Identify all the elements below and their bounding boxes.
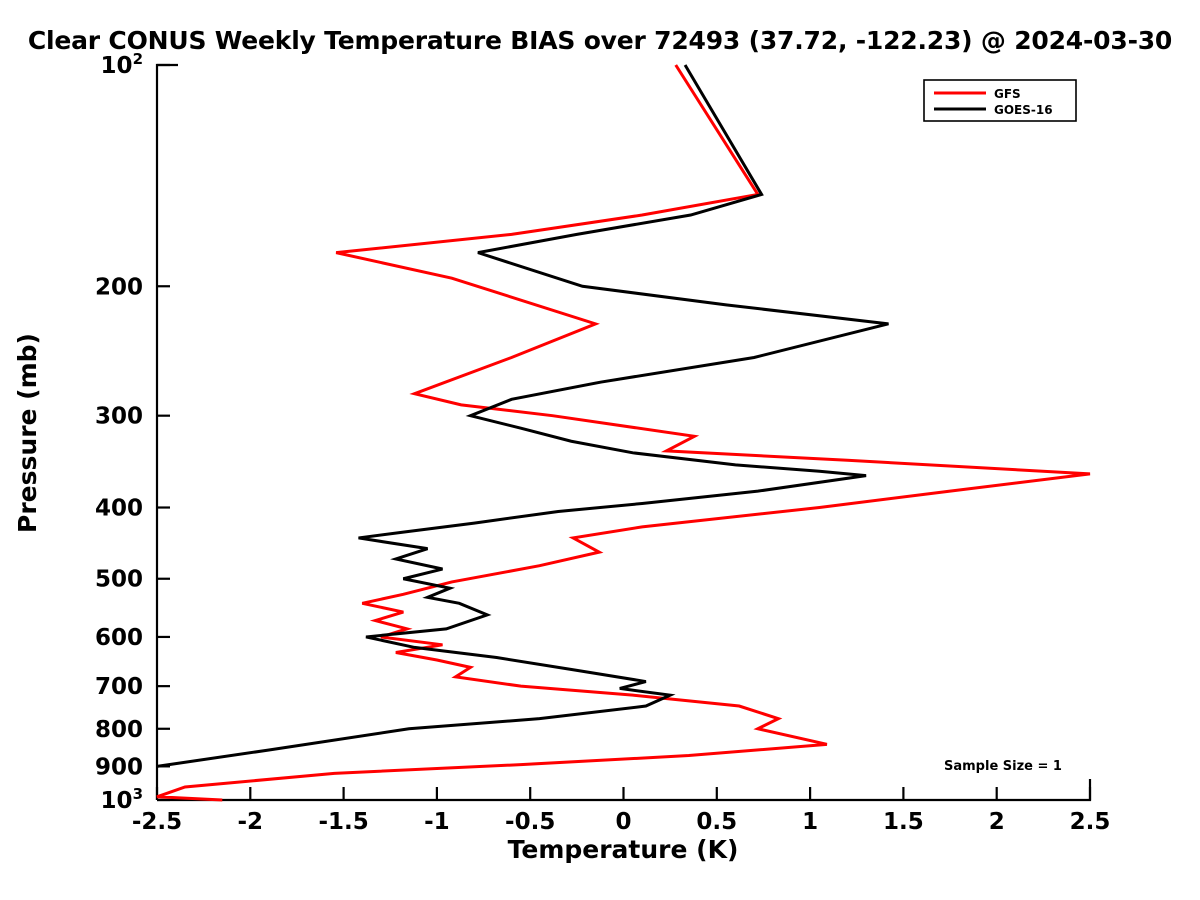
- y-tick-labels: 102200300400500600700800900103: [95, 50, 143, 814]
- x-tick-label: 2: [989, 809, 1005, 835]
- y-tick-label: 102: [101, 50, 143, 79]
- y-tick-label: 800: [95, 717, 143, 743]
- y-tick-label: 600: [95, 625, 143, 651]
- y-tick-label: 300: [95, 404, 143, 430]
- x-tick-label: 1: [802, 809, 818, 835]
- y-tick-label: 500: [95, 567, 143, 593]
- x-tick-label: 0: [615, 809, 631, 835]
- data-series-layer: [157, 65, 1090, 800]
- y-tick-label: 200: [95, 274, 143, 300]
- x-tick-labels: -2.5-2-1.5-1-0.500.511.522.5: [132, 809, 1111, 835]
- series-line-goes-16: [157, 65, 888, 766]
- axis-left-spine: [157, 65, 178, 800]
- x-axis-title: Temperature (K): [508, 835, 739, 864]
- x-tick-label: -1: [424, 809, 450, 835]
- x-tick-label: -0.5: [505, 809, 555, 835]
- y-axis-title: Pressure (mb): [13, 333, 42, 533]
- legend[interactable]: GFSGOES-16: [924, 80, 1076, 121]
- x-tick-label: 1.5: [883, 809, 924, 835]
- plot-svg: 102200300400500600700800900103 -2.5-2-1.…: [0, 0, 1200, 900]
- x-tick-label: -1.5: [318, 809, 368, 835]
- figure-canvas: Clear CONUS Weekly Temperature BIAS over…: [0, 0, 1200, 900]
- y-tick-label: 700: [95, 674, 143, 700]
- y-tick-label: 400: [95, 496, 143, 522]
- x-tick-label: 2.5: [1070, 809, 1111, 835]
- legend-label-goes-16[interactable]: GOES-16: [994, 103, 1053, 117]
- y-tick-label: 900: [95, 754, 143, 780]
- sample-size-annotation: Sample Size = 1: [944, 759, 1062, 774]
- x-tick-label: -2: [238, 809, 264, 835]
- x-tick-label: -2.5: [132, 809, 182, 835]
- legend-label-gfs[interactable]: GFS: [994, 87, 1021, 101]
- x-tick-label: 0.5: [696, 809, 737, 835]
